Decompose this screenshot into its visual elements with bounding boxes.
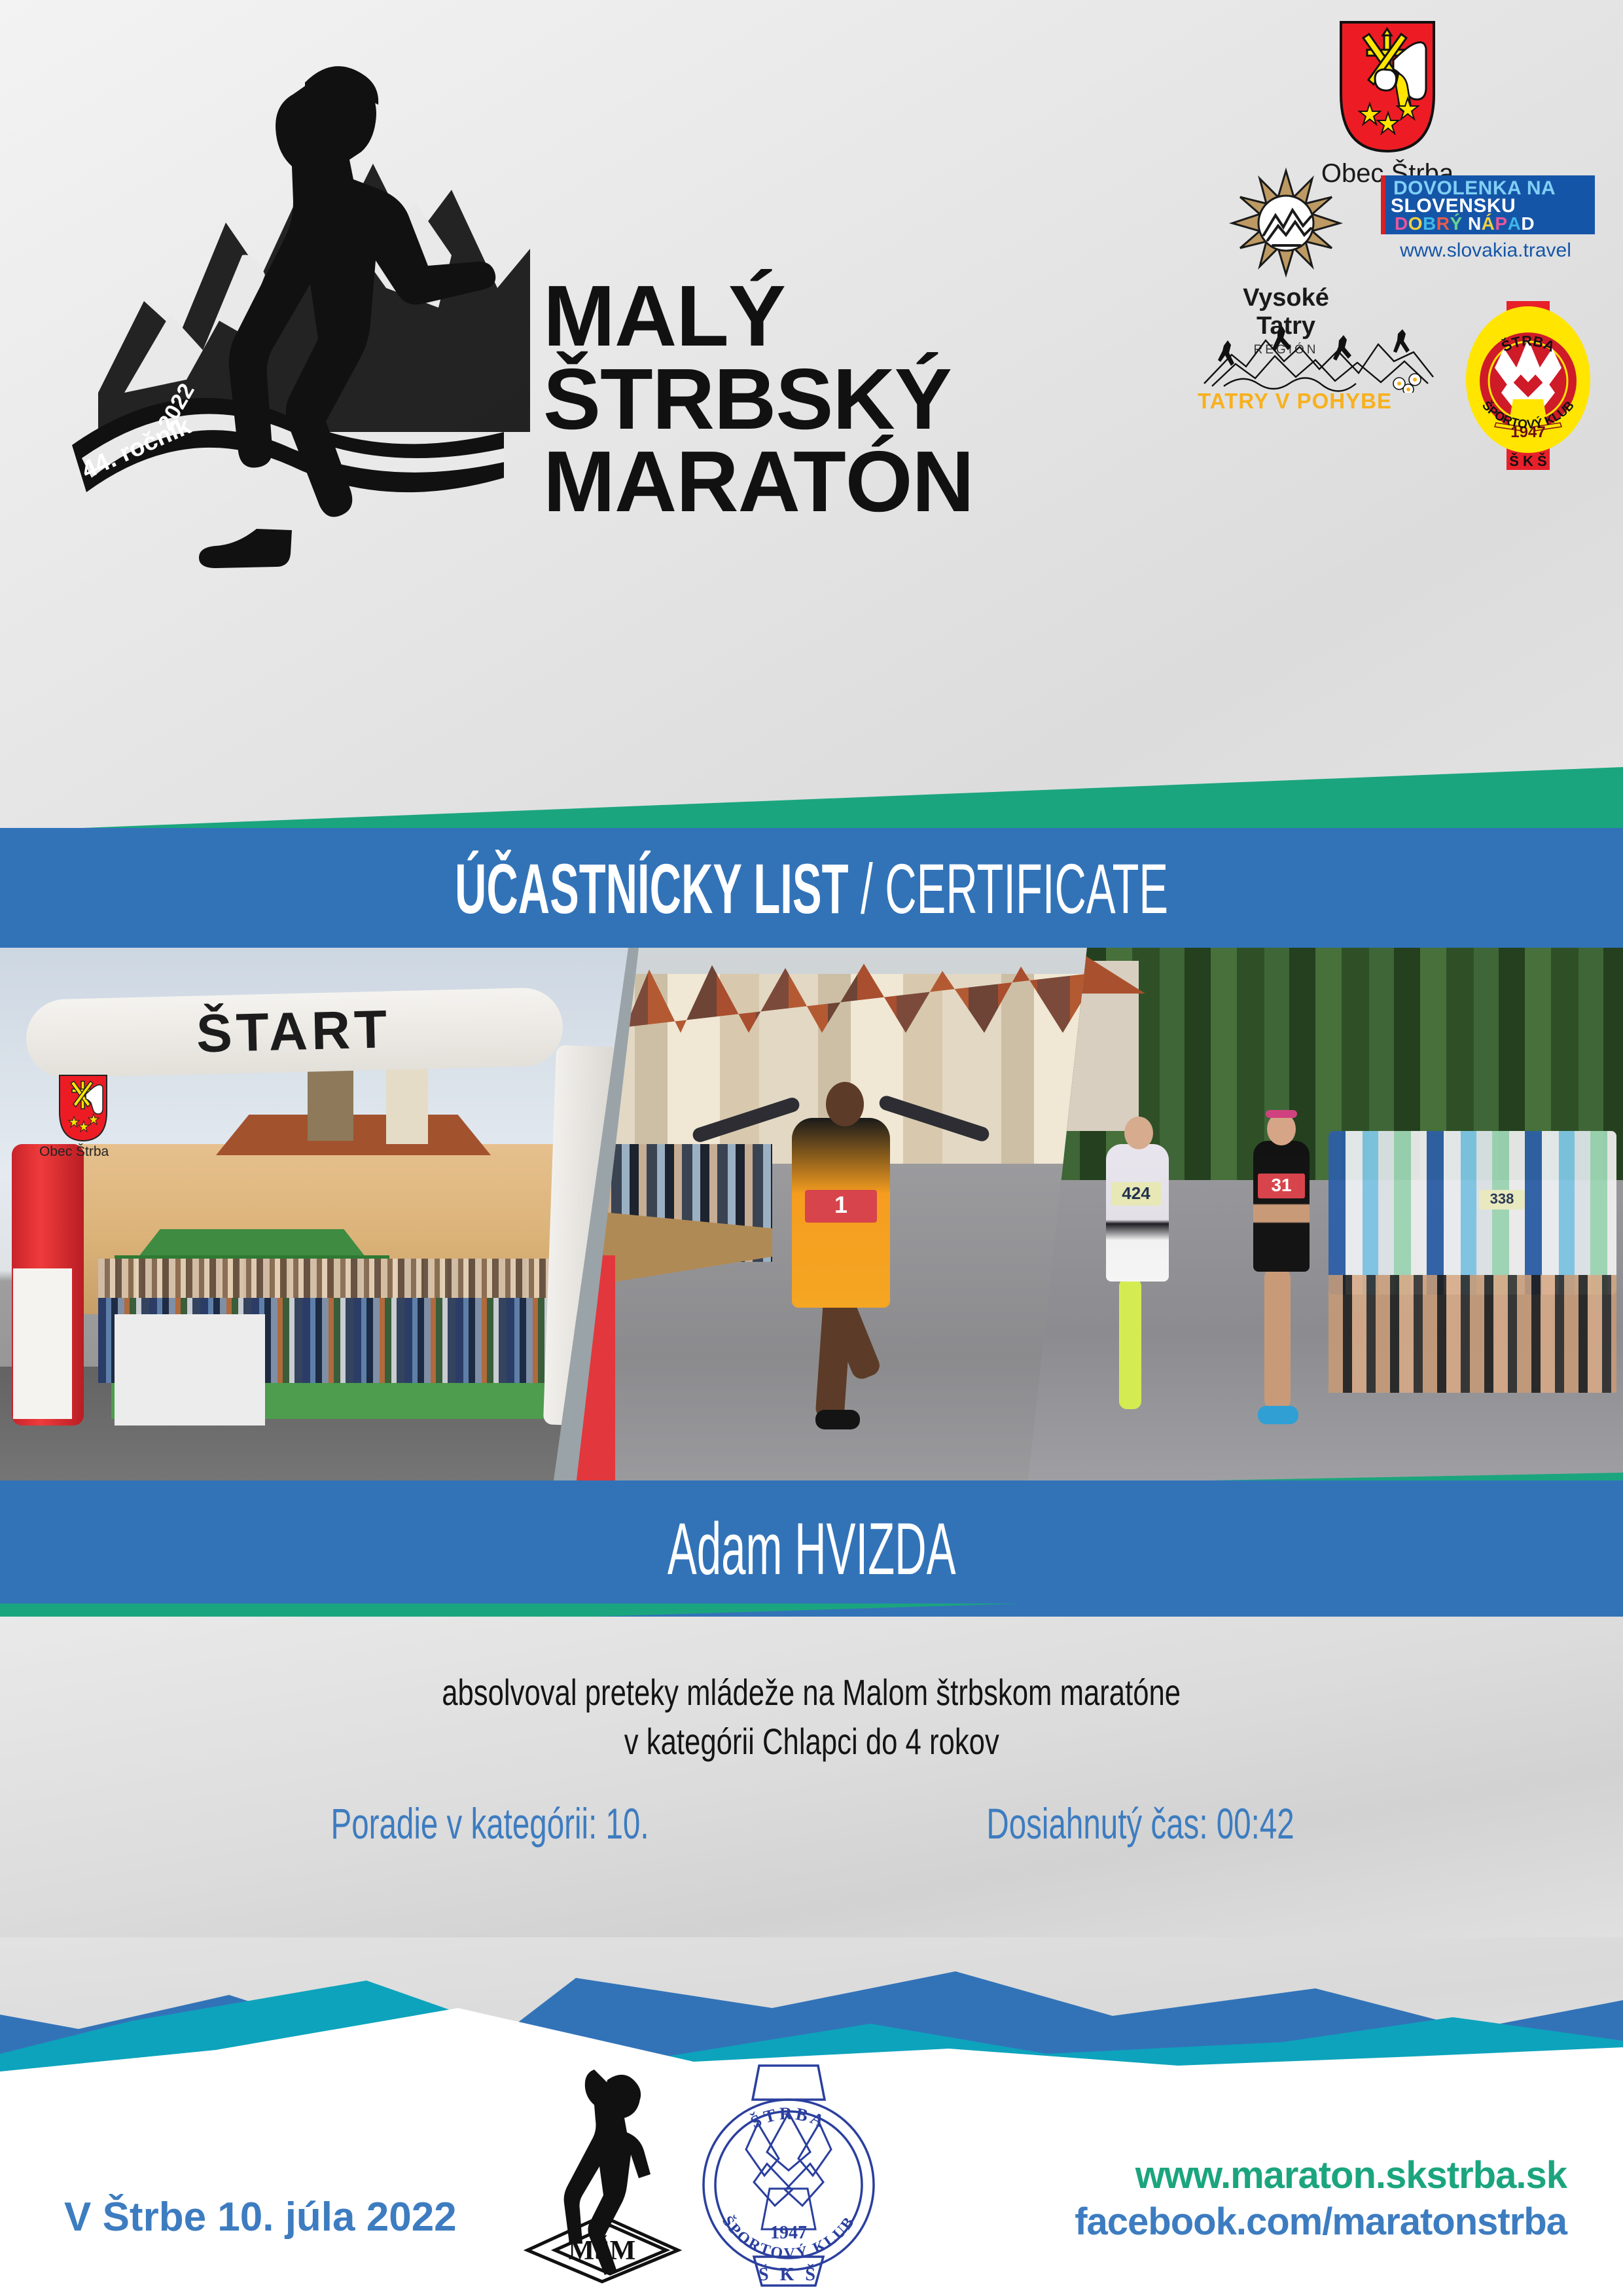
facebook-link[interactable]: facebook.com/maratonstrba xyxy=(1075,2200,1567,2244)
event-title-line-3: MARATÓN xyxy=(543,440,1185,524)
runner-31-legs xyxy=(1264,1268,1291,1409)
finish-tape-post xyxy=(576,1255,615,1484)
obec-strba-logo: Obec Štrba xyxy=(1289,20,1486,188)
strba-coat-of-arms-icon xyxy=(1338,20,1436,154)
achievement-description: absolvoval preteky mládeže na Malom štrb… xyxy=(0,1668,1623,1766)
runner-424-bib-number: 424 xyxy=(1111,1183,1161,1204)
participant-name: Adam HVIZDA xyxy=(668,1507,956,1591)
winner-finish-photo: 1 xyxy=(576,948,1099,1486)
runner-424-head xyxy=(1124,1117,1153,1149)
runner-pack xyxy=(1329,1131,1616,1295)
winner-head xyxy=(826,1082,864,1126)
certificate-title-separator: / xyxy=(848,849,885,928)
sks-stamp-year-text: 1947 xyxy=(770,2223,807,2243)
runner-424-compression-sock xyxy=(1119,1278,1141,1409)
certificate-body: absolvoval preteky mládeže na Malom štrb… xyxy=(0,1617,1623,1937)
slovakia-travel-banner: DOVOLENKA NA SLOVENSKU DOBRÝ NÁPAD xyxy=(1381,175,1595,234)
event-title-line-1: MALÝ xyxy=(543,275,1185,358)
event-logo-block: 44. ročník 2022 MALÝ ŠTRBSKÝ MARATÓN xyxy=(39,20,1165,713)
runner-31-bib-number: 31 xyxy=(1258,1175,1305,1196)
slovakia-travel-url[interactable]: www.slovakia.travel xyxy=(1381,240,1590,262)
certificate-title: ÚČASTNÍCKY LIST / CERTIFICATE xyxy=(455,853,1168,924)
sks-stamp-top-text: ŠTRBA xyxy=(747,2104,830,2132)
description-line-1: absolvoval preteky mládeže na Malom štrb… xyxy=(0,1668,1623,1717)
msm-runner-emblem: MŠM xyxy=(517,2068,687,2284)
finish-time: Dosiahnutý čas: 00:42 xyxy=(927,1799,1354,1848)
wooden-tower xyxy=(308,1062,353,1141)
certificate-title-sk: ÚČASTNÍCKY LIST xyxy=(455,849,848,928)
tatry-v-pohybe-logo: TATRY V POHYBE xyxy=(1198,321,1446,414)
runner-crowd-heads xyxy=(98,1259,615,1298)
pack-bib-number: 338 xyxy=(1479,1191,1525,1208)
start-arch-photo: ŠTART Obec Štrba xyxy=(0,948,628,1486)
name-banner-background: Adam HVIZDA xyxy=(0,1480,1623,1617)
header-section: 44. ročník 2022 MALÝ ŠTRBSKÝ MARATÓN xyxy=(0,0,1623,828)
msm-monogram-text: MŠM xyxy=(569,2234,636,2266)
vysoke-tatry-side-banner xyxy=(115,1314,265,1426)
result-row: Poradie v kategórii: 10. Dosiahnutý čas:… xyxy=(0,1799,1623,1848)
slovakia-travel-line3: DOBRÝ NÁPAD xyxy=(1395,213,1535,234)
event-title: MALÝ ŠTRBSKÝ MARATÓN xyxy=(543,275,1185,524)
arch-coat-of-arms-icon xyxy=(58,1073,109,1141)
sks-stamp-bottom-text: Š K Š xyxy=(758,2265,819,2285)
running-man-mountains-logo: 44. ročník 2022 xyxy=(46,26,543,681)
category-rank: Poradie v kategórii: 10. xyxy=(269,1799,711,1848)
participant-name-banner: Adam HVIZDA xyxy=(0,1480,1623,1617)
finish-time-text: Dosiahnutý čas: 00:42 xyxy=(986,1799,1294,1848)
sks-bottom-text: Š K Š xyxy=(1509,453,1546,469)
runner-31-headband xyxy=(1266,1110,1297,1118)
runners-on-road-photo: 338 424 31 xyxy=(1027,948,1623,1486)
start-banner-text: ŠTART xyxy=(196,997,485,1066)
event-title-line-2: ŠTRBSKÝ xyxy=(543,358,1185,441)
arch-obec-label: Obec Štrba xyxy=(39,1144,109,1160)
photo-strip: ŠTART Obec Štrba xyxy=(0,948,1623,1486)
winner-shoe xyxy=(815,1410,860,1429)
house-roof xyxy=(216,1115,491,1155)
tatry-v-pohybe-mountains-icon xyxy=(1198,321,1440,393)
sks-strba-stamp: ŠTRBA 1947 ŠPORTOVÝ KLUB Š K Š xyxy=(694,2060,883,2289)
runner-31-shoe xyxy=(1258,1406,1298,1424)
certificate-page: 44. ročník 2022 MALÝ ŠTRBSKÝ MARATÓN xyxy=(0,0,1623,2296)
winner-bib-number: 1 xyxy=(805,1191,877,1219)
sks-strba-club-logo: 1947 ŠTRBA ŠPORTOVÝ KLUB Š K Š xyxy=(1453,301,1603,471)
description-line-2: v kategórii Chlapci do 4 rokov xyxy=(0,1717,1623,1766)
edelweiss-sun-icon xyxy=(1227,167,1345,278)
sponsor-logos: Obec Štrba Vysoké Tatry REGIÓN xyxy=(1165,7,1610,759)
slovakia-travel-logo: DOVOLENKA NA SLOVENSKU DOBRÝ NÁPAD www.s… xyxy=(1381,175,1597,262)
certificate-title-bar: ÚČASTNÍCKY LIST / CERTIFICATE xyxy=(0,828,1623,949)
msm-side-banner xyxy=(13,1268,72,1419)
participant-name-row: Adam HVIZDA xyxy=(0,1480,1623,1617)
place-and-date: V Štrbe 10. júla 2022 xyxy=(64,2194,457,2240)
runner-424-torso xyxy=(1106,1144,1169,1282)
certificate-title-en: CERTIFICATE xyxy=(885,849,1168,928)
runner-pack-legs xyxy=(1329,1275,1616,1393)
footer-links: www.maraton.skstrba.sk facebook.com/mara… xyxy=(1075,2153,1567,2244)
runner-31-torso xyxy=(1253,1141,1310,1272)
category-rank-text: Poradie v kategórii: 10. xyxy=(330,1799,649,1848)
website-link[interactable]: www.maraton.skstrba.sk xyxy=(1075,2153,1567,2197)
footer-section: V Štrbe 10. júla 2022 MŠM xyxy=(0,1937,1623,2296)
